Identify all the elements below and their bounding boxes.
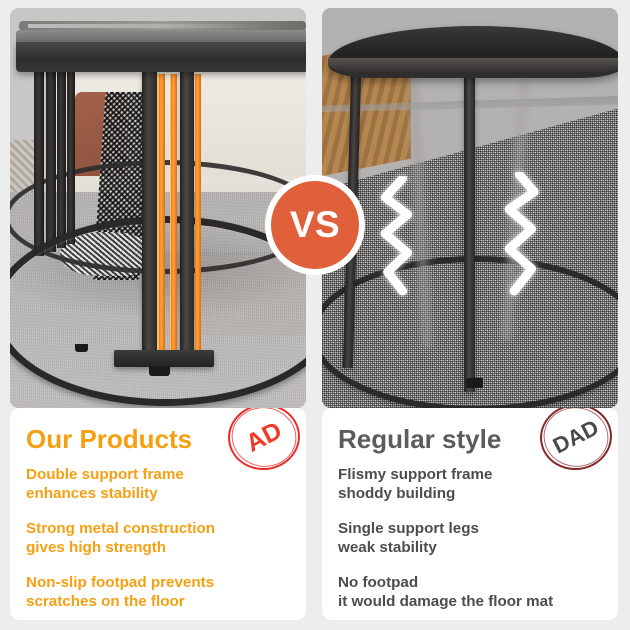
- feature-item: Non-slip footpad prevents scratches on t…: [26, 573, 290, 612]
- dad-stamp: DAD: [540, 408, 612, 470]
- back-leg: [46, 72, 55, 252]
- feature-line-1: Single support legs: [338, 520, 479, 537]
- feature-line-1: Double support frame: [26, 466, 184, 483]
- feature-line-2: scratches on the floor: [26, 593, 185, 610]
- feature-card-ours: AD Our Products Double support frame enh…: [10, 408, 306, 620]
- base-crossbar: [114, 350, 215, 367]
- orange-accent-stripe: [195, 74, 201, 358]
- feature-item: Single support legs weak stability: [338, 519, 602, 558]
- feature-line-2: it would damage the floor mat: [338, 593, 553, 610]
- feature-line-1: Strong metal construction: [26, 520, 215, 537]
- tabletop-apron: [16, 42, 306, 72]
- single-support-leg: [464, 72, 475, 392]
- feature-line-1: No footpad: [338, 574, 418, 591]
- comparison-board: AD Our Products Double support frame enh…: [0, 0, 630, 630]
- product-photo-ours: [10, 8, 306, 408]
- orange-accent-stripe: [159, 74, 166, 358]
- scene-regular-product: [322, 8, 618, 408]
- back-leg: [57, 72, 65, 248]
- feature-line-2: gives high strength: [26, 539, 166, 556]
- feature-item: No footpad it would damage the floor mat: [338, 573, 602, 612]
- double-support-post: [142, 71, 157, 363]
- feature-line-1: Flismy support frame: [338, 466, 492, 483]
- leg-end-no-footpad: [466, 378, 484, 388]
- back-leg: [67, 72, 74, 244]
- product-photo-regular: [322, 8, 618, 408]
- feature-line-2: enhances stability: [26, 485, 158, 502]
- tabletop-lip: [16, 30, 306, 43]
- feature-line-1: Non-slip footpad prevents: [26, 574, 214, 591]
- orange-accent-stripe: [171, 74, 177, 358]
- vs-badge: VS: [265, 175, 365, 275]
- tabletop-lip: [328, 58, 618, 74]
- ad-stamp: AD: [228, 408, 300, 470]
- scene-our-product: [10, 8, 306, 408]
- panel-our-products: AD Our Products Double support frame enh…: [0, 0, 312, 630]
- wobble-squiggle-icon: [375, 176, 425, 296]
- feature-line-2: shoddy building: [338, 485, 455, 502]
- feature-item: Strong metal construction gives high str…: [26, 519, 290, 558]
- non-slip-footpad: [75, 344, 88, 352]
- feature-line-2: weak stability: [338, 539, 437, 556]
- double-support-post: [180, 71, 194, 363]
- back-leg: [34, 72, 45, 256]
- non-slip-footpad: [149, 366, 170, 376]
- panel-regular-style: DAD Regular style Flismy support frame s…: [318, 0, 630, 630]
- wobble-squiggle-icon: [494, 172, 544, 296]
- feature-card-regular: DAD Regular style Flismy support frame s…: [322, 408, 618, 620]
- tabletop-highlight: [28, 24, 265, 28]
